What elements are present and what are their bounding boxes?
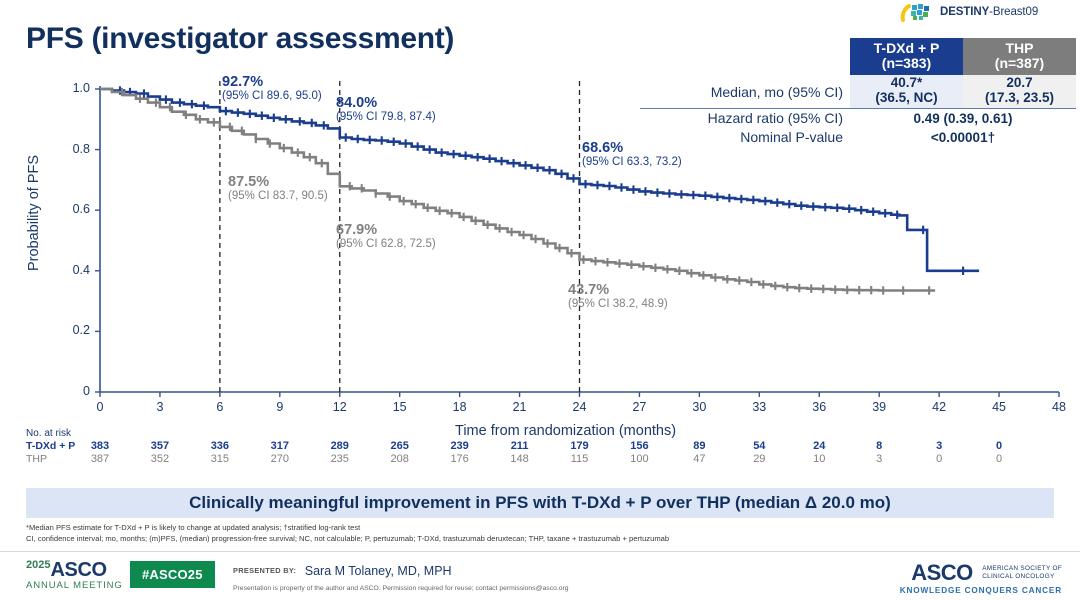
p-value: <0.00001† xyxy=(850,128,1076,147)
annotation-percent: 67.9% xyxy=(336,222,436,238)
footnote-line-1: *Median PFS estimate for T-DXd + P is li… xyxy=(26,522,669,533)
x-tick-0: 0 xyxy=(83,400,117,414)
results-row-median: Median, mo (95% CI) 40.7* (36.5, NC) 20.… xyxy=(640,75,1076,108)
at-risk-value: 315 xyxy=(203,453,237,465)
page-title: PFS (investigator assessment) xyxy=(26,22,454,56)
annotation-percent: 87.5% xyxy=(228,174,328,190)
brand-name-bold: DESTINY xyxy=(940,6,989,18)
annotation-67.9pct-12mo: 67.9%(95% CI 62.8, 72.5) xyxy=(336,222,436,251)
y-tick-0.6: 0.6 xyxy=(56,202,90,216)
annotation-ci: (95% CI 79.8, 87.4) xyxy=(336,111,436,124)
at-risk-value: 317 xyxy=(263,440,297,452)
at-risk-value: 235 xyxy=(323,453,357,465)
at-risk-value: 176 xyxy=(443,453,477,465)
x-tick-36: 36 xyxy=(802,400,836,414)
row-label-hazard-ratio: Hazard ratio (95% CI) xyxy=(640,108,850,128)
asco-society-name: AMERICAN SOCIETY OF CLINICAL ONCOLOGY xyxy=(982,565,1062,581)
at-risk-value: 239 xyxy=(443,440,477,452)
at-risk-row-label: THP xyxy=(26,453,47,465)
presented-by-block: PRESENTED BY: Sara M Tolaney, MD, MPH Pr… xyxy=(233,562,569,592)
annotation-ci: (95% CI 89.6, 95.0) xyxy=(222,90,322,103)
annotation-87.5pct-6mo: 87.5%(95% CI 83.7, 90.5) xyxy=(228,174,328,203)
col-header-line2: (n=383) xyxy=(850,56,963,71)
x-tick-27: 27 xyxy=(622,400,656,414)
y-axis-label: Probability of PFS xyxy=(26,113,42,313)
col-header-line2: (n=387) xyxy=(963,56,1076,71)
at-risk-value: 8 xyxy=(862,440,896,452)
x-tick-6: 6 xyxy=(203,400,237,414)
at-risk-value: 148 xyxy=(503,453,537,465)
results-table: T-DXd + P (n=383) THP (n=387) Median, mo… xyxy=(640,38,1076,147)
at-risk-value: 0 xyxy=(922,453,956,465)
annotation-percent: 92.7% xyxy=(222,74,322,90)
asco-society-line1: AMERICAN SOCIETY OF xyxy=(982,565,1062,572)
at-risk-value: 29 xyxy=(742,453,776,465)
at-risk-row-thp: THP 387352315270235208176148115100472910… xyxy=(26,453,71,466)
at-risk-value: 336 xyxy=(203,440,237,452)
brand-label: DESTINY-Breast09 xyxy=(940,6,1038,18)
at-risk-value: 289 xyxy=(323,440,357,452)
at-risk-value: 3 xyxy=(922,440,956,452)
results-col-header-tdxd: T-DXd + P (n=383) xyxy=(850,38,963,75)
annotation-92.7pct-6mo: 92.7%(95% CI 89.6, 95.0) xyxy=(222,74,322,103)
x-tick-21: 21 xyxy=(503,400,537,414)
median-tdxd-cell: 40.7* (36.5, NC) xyxy=(850,75,963,108)
x-tick-12: 12 xyxy=(323,400,357,414)
x-tick-42: 42 xyxy=(922,400,956,414)
row-label-median: Median, mo (95% CI) xyxy=(640,75,850,108)
y-tick-1.0: 1.0 xyxy=(56,81,90,95)
hashtag-badge: #ASCO25 xyxy=(130,561,215,588)
slide-root: DESTINY-Breast09 PFS (investigator asses… xyxy=(0,0,1080,599)
median-tdxd-value: 40.7* xyxy=(850,76,963,91)
asco-logo: ASCO AMERICAN SOCIETY OF CLINICAL ONCOLO… xyxy=(900,562,1062,595)
conclusion-text: Clinically meaningful improvement in PFS… xyxy=(189,493,891,513)
x-tick-33: 33 xyxy=(742,400,776,414)
asco-society-line2: CLINICAL ONCOLOGY xyxy=(982,573,1054,580)
at-risk-value: 3 xyxy=(862,453,896,465)
at-risk-value: 24 xyxy=(802,440,836,452)
annotation-ci: (95% CI 63.3, 73.2) xyxy=(582,156,682,169)
at-risk-value: 115 xyxy=(563,453,597,465)
annotation-ci: (95% CI 62.8, 72.5) xyxy=(336,238,436,251)
x-tick-24: 24 xyxy=(563,400,597,414)
annotation-84.0pct-12mo: 84.0%(95% CI 79.8, 87.4) xyxy=(336,95,436,124)
brand-name-rest: -Breast09 xyxy=(989,6,1038,18)
meeting-year: 2025 xyxy=(26,559,50,571)
at-risk-value: 0 xyxy=(982,453,1016,465)
annotation-ci: (95% CI 38.2, 48.9) xyxy=(568,298,668,311)
results-row-hazard-ratio: Hazard ratio (95% CI) 0.49 (0.39, 0.61) xyxy=(640,108,1076,128)
at-risk-row-label: T-DXd + P xyxy=(26,440,75,452)
x-tick-3: 3 xyxy=(143,400,177,414)
at-risk-row-tdxd: T-DXd + P 383357336317289265239211179156… xyxy=(26,440,71,453)
at-risk-value: 0 xyxy=(982,440,1016,452)
annotation-percent: 68.6% xyxy=(582,140,682,156)
col-header-line1: THP xyxy=(963,41,1076,56)
at-risk-value: 352 xyxy=(143,453,177,465)
destiny-breast09-brand: DESTINY-Breast09 xyxy=(900,2,1038,22)
at-risk-value: 265 xyxy=(383,440,417,452)
asco-tagline: KNOWLEDGE CONQUERS CANCER xyxy=(900,587,1062,595)
x-tick-30: 30 xyxy=(682,400,716,414)
meeting-name: ASCO xyxy=(50,559,106,581)
asco-annual-meeting-logo: 2025ASCO ANNUAL MEETING xyxy=(26,560,123,591)
at-risk-value: 383 xyxy=(83,440,117,452)
x-tick-45: 45 xyxy=(982,400,1016,414)
y-tick-0.2: 0.2 xyxy=(56,323,90,337)
median-thp-value: 20.7 xyxy=(963,76,1076,91)
permission-note: Presentation is property of the author a… xyxy=(233,585,569,592)
x-tick-48: 48 xyxy=(1042,400,1076,414)
presenter-name: Sara M Tolaney, MD, MPH xyxy=(305,564,452,578)
y-tick-0.4: 0.4 xyxy=(56,263,90,277)
destiny-breast-logo-icon xyxy=(900,2,936,22)
annotation-43.7pct-24mo: 43.7%(95% CI 38.2, 48.9) xyxy=(568,282,668,311)
results-row-p-value: Nominal P-value <0.00001† xyxy=(640,128,1076,147)
at-risk-value: 10 xyxy=(802,453,836,465)
at-risk-value: 156 xyxy=(622,440,656,452)
asco-wordmark: ASCO xyxy=(911,562,973,584)
x-tick-15: 15 xyxy=(383,400,417,414)
median-thp-cell: 20.7 (17.3, 23.5) xyxy=(963,75,1076,108)
at-risk-value: 387 xyxy=(83,453,117,465)
number-at-risk-table: No. at risk T-DXd + P 383357336317289265… xyxy=(26,428,71,466)
at-risk-value: 208 xyxy=(383,453,417,465)
meeting-subtitle: ANNUAL MEETING xyxy=(26,581,123,591)
presented-by-label: PRESENTED BY: xyxy=(233,566,296,575)
footnotes: *Median PFS estimate for T-DXd + P is li… xyxy=(26,522,669,544)
at-risk-value: 357 xyxy=(143,440,177,452)
at-risk-value: 270 xyxy=(263,453,297,465)
median-thp-ci: (17.3, 23.5) xyxy=(963,91,1076,106)
at-risk-value: 211 xyxy=(503,440,537,452)
conclusion-banner: Clinically meaningful improvement in PFS… xyxy=(26,488,1054,518)
footnote-line-2: CI, confidence interval; mo, months; (m)… xyxy=(26,533,669,544)
at-risk-value: 54 xyxy=(742,440,776,452)
annotation-ci: (95% CI 83.7, 90.5) xyxy=(228,190,328,203)
at-risk-value: 89 xyxy=(682,440,716,452)
at-risk-value: 47 xyxy=(682,453,716,465)
slide-footer: 2025ASCO ANNUAL MEETING #ASCO25 PRESENTE… xyxy=(0,551,1080,600)
col-header-line1: T-DXd + P xyxy=(850,41,963,56)
x-tick-18: 18 xyxy=(443,400,477,414)
results-table-header-row: T-DXd + P (n=383) THP (n=387) xyxy=(640,38,1076,75)
at-risk-heading: No. at risk xyxy=(26,428,71,439)
y-tick-0: 0 xyxy=(56,384,90,398)
y-tick-0.8: 0.8 xyxy=(56,142,90,156)
at-risk-value: 100 xyxy=(622,453,656,465)
annotation-68.6pct-24mo: 68.6%(95% CI 63.3, 73.2) xyxy=(582,140,682,169)
x-axis-label: Time from randomization (months) xyxy=(455,423,676,439)
at-risk-value: 179 xyxy=(563,440,597,452)
annotation-percent: 43.7% xyxy=(568,282,668,298)
median-tdxd-ci: (36.5, NC) xyxy=(850,91,963,106)
annotation-percent: 84.0% xyxy=(336,95,436,111)
x-tick-39: 39 xyxy=(862,400,896,414)
hazard-ratio-value: 0.49 (0.39, 0.61) xyxy=(850,108,1076,128)
x-tick-9: 9 xyxy=(263,400,297,414)
results-col-header-thp: THP (n=387) xyxy=(963,38,1076,75)
